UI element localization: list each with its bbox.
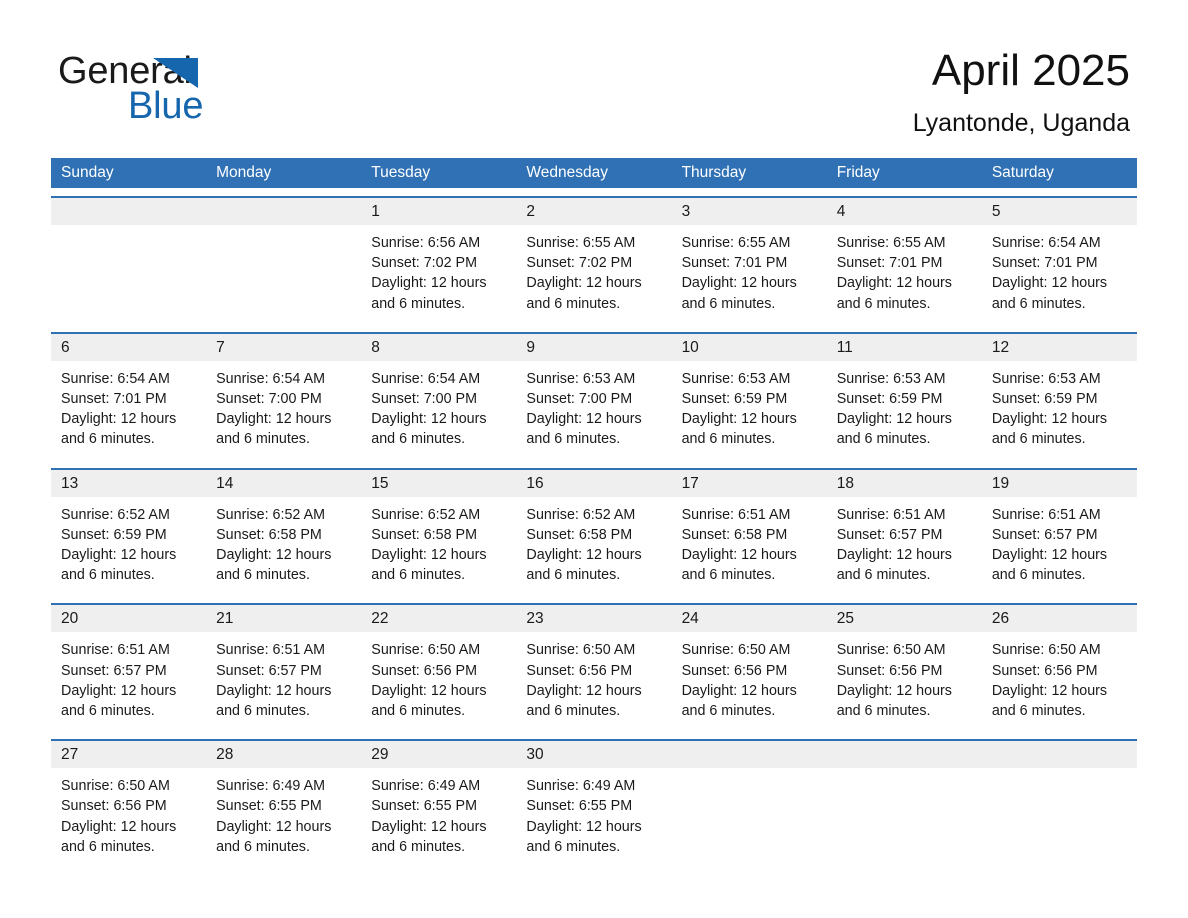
sunset-line: Sunset: 6:58 PM <box>682 525 815 545</box>
sunset-line: Sunset: 6:55 PM <box>216 796 349 816</box>
day-number[interactable]: 9 <box>516 334 671 361</box>
day-cell[interactable]: Sunrise: 6:50 AM Sunset: 6:56 PM Dayligh… <box>51 768 206 867</box>
week-body-row: Sunrise: 6:52 AM Sunset: 6:59 PM Dayligh… <box>51 497 1137 596</box>
week-body-row: Sunrise: 6:56 AM Sunset: 7:02 PM Dayligh… <box>51 225 1137 324</box>
day-number[interactable]: 11 <box>827 334 982 361</box>
sunset-line: Sunset: 6:55 PM <box>371 796 504 816</box>
day-cell[interactable] <box>672 768 827 867</box>
daylight-line-1: Daylight: 12 hours <box>216 409 349 429</box>
day-number[interactable]: 26 <box>982 605 1137 632</box>
day-cell[interactable]: Sunrise: 6:53 AM Sunset: 6:59 PM Dayligh… <box>672 361 827 460</box>
week-body-row: Sunrise: 6:50 AM Sunset: 6:56 PM Dayligh… <box>51 768 1137 867</box>
daylight-line-1: Daylight: 12 hours <box>992 409 1125 429</box>
sunrise-line: Sunrise: 6:52 AM <box>371 505 504 525</box>
weekday-header-row: Sunday Monday Tuesday Wednesday Thursday… <box>51 158 1137 188</box>
day-number[interactable]: 21 <box>206 605 361 632</box>
day-number[interactable] <box>672 741 827 768</box>
sunrise-line: Sunrise: 6:50 AM <box>61 776 194 796</box>
day-number[interactable]: 29 <box>361 741 516 768</box>
daylight-line-2: and 6 minutes. <box>992 429 1125 449</box>
day-number[interactable]: 16 <box>516 470 671 497</box>
day-number[interactable]: 13 <box>51 470 206 497</box>
day-cell[interactable]: Sunrise: 6:52 AM Sunset: 6:58 PM Dayligh… <box>206 497 361 596</box>
sunrise-line: Sunrise: 6:49 AM <box>526 776 659 796</box>
day-cell[interactable]: Sunrise: 6:54 AM Sunset: 7:01 PM Dayligh… <box>982 225 1137 324</box>
daylight-line-1: Daylight: 12 hours <box>837 273 970 293</box>
daylight-line-2: and 6 minutes. <box>992 294 1125 314</box>
sunset-line: Sunset: 6:59 PM <box>61 525 194 545</box>
day-cell[interactable]: Sunrise: 6:53 AM Sunset: 7:00 PM Dayligh… <box>516 361 671 460</box>
day-number[interactable] <box>206 198 361 225</box>
day-cell[interactable]: Sunrise: 6:55 AM Sunset: 7:01 PM Dayligh… <box>672 225 827 324</box>
sunrise-line: Sunrise: 6:50 AM <box>526 640 659 660</box>
day-number[interactable]: 18 <box>827 470 982 497</box>
sunset-line: Sunset: 6:58 PM <box>216 525 349 545</box>
day-number[interactable]: 22 <box>361 605 516 632</box>
daylight-line-2: and 6 minutes. <box>682 701 815 721</box>
sunset-line: Sunset: 7:02 PM <box>526 253 659 273</box>
daylight-line-2: and 6 minutes. <box>526 565 659 585</box>
daylight-line-2: and 6 minutes. <box>837 565 970 585</box>
sunrise-line: Sunrise: 6:52 AM <box>61 505 194 525</box>
location-subtitle: Lyantonde, Uganda <box>913 106 1130 140</box>
daylight-line-1: Daylight: 12 hours <box>682 681 815 701</box>
sunrise-line: Sunrise: 6:50 AM <box>371 640 504 660</box>
sunset-line: Sunset: 6:59 PM <box>837 389 970 409</box>
day-cell[interactable]: Sunrise: 6:56 AM Sunset: 7:02 PM Dayligh… <box>361 225 516 324</box>
daylight-line-2: and 6 minutes. <box>371 565 504 585</box>
weekday-header-friday: Friday <box>827 158 982 188</box>
day-number[interactable] <box>51 198 206 225</box>
daylight-line-2: and 6 minutes. <box>682 565 815 585</box>
calendar-week-row: 6 7 8 9 10 11 12 Sunrise: 6:54 AM Sunset… <box>51 332 1137 460</box>
sunrise-line: Sunrise: 6:54 AM <box>61 369 194 389</box>
day-cell[interactable]: Sunrise: 6:50 AM Sunset: 6:56 PM Dayligh… <box>672 632 827 731</box>
daylight-line-1: Daylight: 12 hours <box>61 409 194 429</box>
daylight-line-2: and 6 minutes. <box>61 429 194 449</box>
sunset-line: Sunset: 6:56 PM <box>61 796 194 816</box>
sunset-line: Sunset: 6:55 PM <box>526 796 659 816</box>
day-cell[interactable]: Sunrise: 6:51 AM Sunset: 6:57 PM Dayligh… <box>827 497 982 596</box>
daylight-line-1: Daylight: 12 hours <box>371 545 504 565</box>
calendar-page: General Blue April 2025 Lyantonde, Ugand… <box>0 0 1188 918</box>
daylight-line-1: Daylight: 12 hours <box>992 273 1125 293</box>
page-title: April 2025 <box>913 44 1130 98</box>
daylight-line-1: Daylight: 12 hours <box>526 273 659 293</box>
day-number[interactable]: 19 <box>982 470 1137 497</box>
day-number[interactable]: 27 <box>51 741 206 768</box>
page-masthead: General Blue April 2025 Lyantonde, Ugand… <box>0 0 1188 158</box>
sunset-line: Sunset: 7:00 PM <box>526 389 659 409</box>
daylight-line-1: Daylight: 12 hours <box>371 681 504 701</box>
sunrise-line: Sunrise: 6:56 AM <box>371 233 504 253</box>
day-cell[interactable]: Sunrise: 6:54 AM Sunset: 7:01 PM Dayligh… <box>51 361 206 460</box>
week-date-bar: 1 2 3 4 5 <box>51 198 1137 225</box>
day-number[interactable]: 5 <box>982 198 1137 225</box>
day-number[interactable]: 3 <box>672 198 827 225</box>
day-number[interactable]: 10 <box>672 334 827 361</box>
daylight-line-1: Daylight: 12 hours <box>61 817 194 837</box>
day-cell[interactable]: Sunrise: 6:51 AM Sunset: 6:57 PM Dayligh… <box>982 497 1137 596</box>
daylight-line-1: Daylight: 12 hours <box>837 409 970 429</box>
sunset-line: Sunset: 7:01 PM <box>61 389 194 409</box>
day-number[interactable]: 20 <box>51 605 206 632</box>
sunrise-line: Sunrise: 6:51 AM <box>61 640 194 660</box>
day-cell[interactable]: Sunrise: 6:51 AM Sunset: 6:57 PM Dayligh… <box>206 632 361 731</box>
weekday-header-saturday: Saturday <box>982 158 1137 188</box>
calendar-week-row: 1 2 3 4 5 S <box>51 196 1137 324</box>
sunrise-line: Sunrise: 6:51 AM <box>216 640 349 660</box>
sunset-line: Sunset: 7:00 PM <box>216 389 349 409</box>
sunrise-line: Sunrise: 6:52 AM <box>526 505 659 525</box>
daylight-line-2: and 6 minutes. <box>216 701 349 721</box>
sunrise-line: Sunrise: 6:50 AM <box>837 640 970 660</box>
daylight-line-1: Daylight: 12 hours <box>526 817 659 837</box>
week-date-bar: 20 21 22 23 24 25 26 <box>51 605 1137 632</box>
daylight-line-2: and 6 minutes. <box>216 565 349 585</box>
daylight-line-1: Daylight: 12 hours <box>992 681 1125 701</box>
sunrise-line: Sunrise: 6:54 AM <box>371 369 504 389</box>
daylight-line-2: and 6 minutes. <box>682 294 815 314</box>
sunrise-line: Sunrise: 6:51 AM <box>992 505 1125 525</box>
generalblue-logo[interactable]: General Blue <box>58 50 338 130</box>
daylight-line-1: Daylight: 12 hours <box>682 273 815 293</box>
daylight-line-2: and 6 minutes. <box>837 294 970 314</box>
day-cell[interactable]: Sunrise: 6:55 AM Sunset: 7:01 PM Dayligh… <box>827 225 982 324</box>
day-cell[interactable]: Sunrise: 6:50 AM Sunset: 6:56 PM Dayligh… <box>516 632 671 731</box>
day-cell[interactable] <box>206 225 361 324</box>
day-number[interactable]: 2 <box>516 198 671 225</box>
daylight-line-2: and 6 minutes. <box>992 565 1125 585</box>
sunrise-line: Sunrise: 6:54 AM <box>216 369 349 389</box>
day-number[interactable] <box>982 741 1137 768</box>
sunset-line: Sunset: 6:58 PM <box>526 525 659 545</box>
weekday-header-monday: Monday <box>206 158 361 188</box>
week-body-row: Sunrise: 6:51 AM Sunset: 6:57 PM Dayligh… <box>51 632 1137 731</box>
sunrise-line: Sunrise: 6:52 AM <box>216 505 349 525</box>
daylight-line-1: Daylight: 12 hours <box>526 409 659 429</box>
daylight-line-1: Daylight: 12 hours <box>526 545 659 565</box>
daylight-line-2: and 6 minutes. <box>682 429 815 449</box>
sunrise-line: Sunrise: 6:55 AM <box>682 233 815 253</box>
day-number[interactable]: 30 <box>516 741 671 768</box>
sunrise-line: Sunrise: 6:49 AM <box>371 776 504 796</box>
day-cell[interactable]: Sunrise: 6:54 AM Sunset: 7:00 PM Dayligh… <box>206 361 361 460</box>
daylight-line-2: and 6 minutes. <box>837 701 970 721</box>
day-cell[interactable]: Sunrise: 6:55 AM Sunset: 7:02 PM Dayligh… <box>516 225 671 324</box>
day-cell[interactable]: Sunrise: 6:49 AM Sunset: 6:55 PM Dayligh… <box>361 768 516 867</box>
sunset-line: Sunset: 6:57 PM <box>61 661 194 681</box>
day-cell[interactable] <box>51 225 206 324</box>
sunset-line: Sunset: 7:00 PM <box>371 389 504 409</box>
sunrise-line: Sunrise: 6:54 AM <box>992 233 1125 253</box>
sunrise-line: Sunrise: 6:53 AM <box>992 369 1125 389</box>
sunset-line: Sunset: 6:56 PM <box>682 661 815 681</box>
sunset-line: Sunset: 6:59 PM <box>992 389 1125 409</box>
daylight-line-2: and 6 minutes. <box>371 294 504 314</box>
week-date-bar: 6 7 8 9 10 11 12 <box>51 334 1137 361</box>
daylight-line-1: Daylight: 12 hours <box>61 681 194 701</box>
day-number[interactable]: 23 <box>516 605 671 632</box>
logo-text-blue: Blue <box>128 85 203 127</box>
day-number[interactable]: 1 <box>361 198 516 225</box>
daylight-line-2: and 6 minutes. <box>61 701 194 721</box>
day-cell[interactable]: Sunrise: 6:50 AM Sunset: 6:56 PM Dayligh… <box>982 632 1137 731</box>
daylight-line-2: and 6 minutes. <box>526 701 659 721</box>
calendar-grid: Sunday Monday Tuesday Wednesday Thursday… <box>51 158 1137 867</box>
sunset-line: Sunset: 6:57 PM <box>992 525 1125 545</box>
sunset-line: Sunset: 6:58 PM <box>371 525 504 545</box>
sunset-line: Sunset: 6:57 PM <box>216 661 349 681</box>
daylight-line-1: Daylight: 12 hours <box>216 681 349 701</box>
sunset-line: Sunset: 7:01 PM <box>992 253 1125 273</box>
weekday-header-tuesday: Tuesday <box>361 158 516 188</box>
daylight-line-2: and 6 minutes. <box>992 701 1125 721</box>
daylight-line-2: and 6 minutes. <box>216 837 349 857</box>
sunrise-line: Sunrise: 6:51 AM <box>837 505 970 525</box>
daylight-line-1: Daylight: 12 hours <box>526 681 659 701</box>
sunrise-line: Sunrise: 6:53 AM <box>682 369 815 389</box>
sunrise-line: Sunrise: 6:50 AM <box>992 640 1125 660</box>
sunrise-line: Sunrise: 6:55 AM <box>526 233 659 253</box>
daylight-line-1: Daylight: 12 hours <box>371 409 504 429</box>
daylight-line-2: and 6 minutes. <box>371 701 504 721</box>
sunset-line: Sunset: 7:01 PM <box>837 253 970 273</box>
daylight-line-1: Daylight: 12 hours <box>837 545 970 565</box>
day-number[interactable] <box>827 741 982 768</box>
day-cell[interactable] <box>827 768 982 867</box>
day-cell[interactable]: Sunrise: 6:50 AM Sunset: 6:56 PM Dayligh… <box>361 632 516 731</box>
day-cell[interactable]: Sunrise: 6:54 AM Sunset: 7:00 PM Dayligh… <box>361 361 516 460</box>
day-cell[interactable]: Sunrise: 6:51 AM Sunset: 6:58 PM Dayligh… <box>672 497 827 596</box>
sunrise-line: Sunrise: 6:53 AM <box>526 369 659 389</box>
daylight-line-1: Daylight: 12 hours <box>837 681 970 701</box>
sunrise-line: Sunrise: 6:50 AM <box>682 640 815 660</box>
daylight-line-1: Daylight: 12 hours <box>216 545 349 565</box>
daylight-line-1: Daylight: 12 hours <box>682 545 815 565</box>
day-number[interactable]: 15 <box>361 470 516 497</box>
daylight-line-1: Daylight: 12 hours <box>216 817 349 837</box>
sunset-line: Sunset: 6:56 PM <box>371 661 504 681</box>
week-date-bar: 13 14 15 16 17 18 19 <box>51 470 1137 497</box>
day-number[interactable]: 7 <box>206 334 361 361</box>
day-number[interactable]: 24 <box>672 605 827 632</box>
day-number[interactable]: 12 <box>982 334 1137 361</box>
sunrise-line: Sunrise: 6:55 AM <box>837 233 970 253</box>
daylight-line-1: Daylight: 12 hours <box>371 273 504 293</box>
day-cell[interactable] <box>982 768 1137 867</box>
daylight-line-2: and 6 minutes. <box>526 837 659 857</box>
day-number[interactable]: 17 <box>672 470 827 497</box>
weekday-header-sunday: Sunday <box>51 158 206 188</box>
weekday-header-wednesday: Wednesday <box>516 158 671 188</box>
daylight-line-1: Daylight: 12 hours <box>682 409 815 429</box>
sunrise-line: Sunrise: 6:49 AM <box>216 776 349 796</box>
sunrise-line: Sunrise: 6:51 AM <box>682 505 815 525</box>
daylight-line-2: and 6 minutes. <box>371 837 504 857</box>
sunset-line: Sunset: 6:56 PM <box>837 661 970 681</box>
calendar-week-row: 27 28 29 30 Sunrise: 6:50 AM Sunset: 6:5… <box>51 739 1137 867</box>
sunset-line: Sunset: 6:56 PM <box>992 661 1125 681</box>
day-cell[interactable]: Sunrise: 6:49 AM Sunset: 6:55 PM Dayligh… <box>516 768 671 867</box>
blue-triangle-icon <box>153 58 198 88</box>
calendar-week-row: 13 14 15 16 17 18 19 Sunrise: 6:52 AM Su… <box>51 468 1137 596</box>
sunset-line: Sunset: 7:02 PM <box>371 253 504 273</box>
daylight-line-2: and 6 minutes. <box>526 429 659 449</box>
sunset-line: Sunset: 7:01 PM <box>682 253 815 273</box>
day-number[interactable]: 4 <box>827 198 982 225</box>
daylight-line-2: and 6 minutes. <box>216 429 349 449</box>
daylight-line-2: and 6 minutes. <box>61 837 194 857</box>
day-cell[interactable]: Sunrise: 6:52 AM Sunset: 6:58 PM Dayligh… <box>516 497 671 596</box>
sunset-line: Sunset: 6:56 PM <box>526 661 659 681</box>
day-cell[interactable]: Sunrise: 6:51 AM Sunset: 6:57 PM Dayligh… <box>51 632 206 731</box>
week-date-bar: 27 28 29 30 <box>51 741 1137 768</box>
calendar-week-row: 20 21 22 23 24 25 26 Sunrise: 6:51 AM Su… <box>51 603 1137 731</box>
day-cell[interactable]: Sunrise: 6:52 AM Sunset: 6:59 PM Dayligh… <box>51 497 206 596</box>
day-number[interactable]: 6 <box>51 334 206 361</box>
daylight-line-2: and 6 minutes. <box>61 565 194 585</box>
daylight-line-2: and 6 minutes. <box>526 294 659 314</box>
day-number[interactable]: 8 <box>361 334 516 361</box>
sunset-line: Sunset: 6:59 PM <box>682 389 815 409</box>
day-cell[interactable]: Sunrise: 6:53 AM Sunset: 6:59 PM Dayligh… <box>982 361 1137 460</box>
week-body-row: Sunrise: 6:54 AM Sunset: 7:01 PM Dayligh… <box>51 361 1137 460</box>
daylight-line-2: and 6 minutes. <box>837 429 970 449</box>
weekday-header-thursday: Thursday <box>672 158 827 188</box>
day-cell[interactable]: Sunrise: 6:50 AM Sunset: 6:56 PM Dayligh… <box>827 632 982 731</box>
day-cell[interactable]: Sunrise: 6:53 AM Sunset: 6:59 PM Dayligh… <box>827 361 982 460</box>
daylight-line-2: and 6 minutes. <box>371 429 504 449</box>
title-block: April 2025 Lyantonde, Uganda <box>913 44 1130 140</box>
day-cell[interactable]: Sunrise: 6:49 AM Sunset: 6:55 PM Dayligh… <box>206 768 361 867</box>
sunrise-line: Sunrise: 6:53 AM <box>837 369 970 389</box>
day-number[interactable]: 25 <box>827 605 982 632</box>
daylight-line-1: Daylight: 12 hours <box>61 545 194 565</box>
day-number[interactable]: 14 <box>206 470 361 497</box>
day-cell[interactable]: Sunrise: 6:52 AM Sunset: 6:58 PM Dayligh… <box>361 497 516 596</box>
day-number[interactable]: 28 <box>206 741 361 768</box>
sunset-line: Sunset: 6:57 PM <box>837 525 970 545</box>
daylight-line-1: Daylight: 12 hours <box>371 817 504 837</box>
daylight-line-1: Daylight: 12 hours <box>992 545 1125 565</box>
